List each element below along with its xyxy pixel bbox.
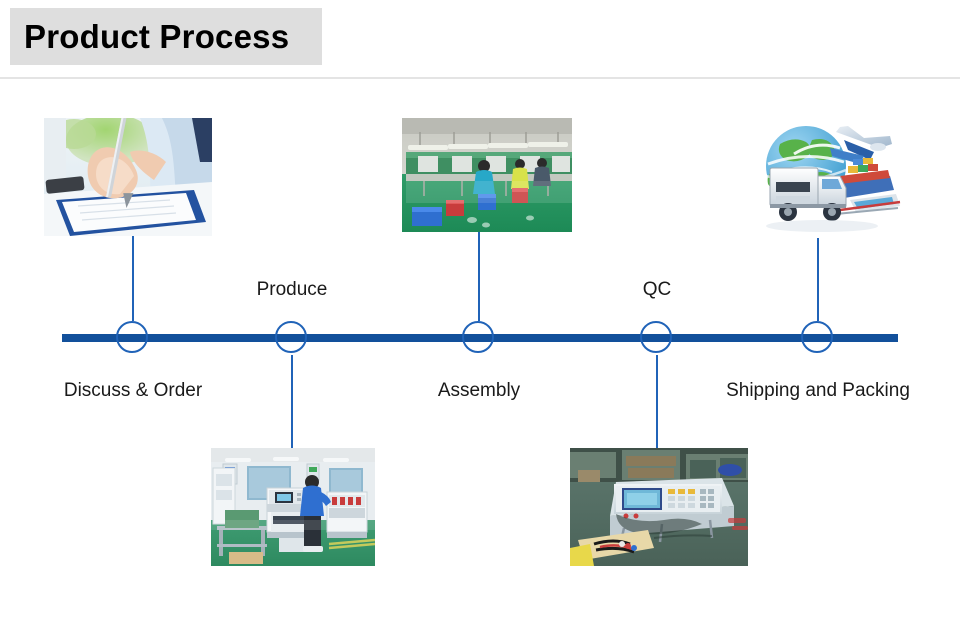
- timeline-node-assembly[interactable]: [462, 321, 494, 353]
- header: Product Process: [0, 0, 960, 79]
- slide-canvas: Product Process: [0, 0, 960, 617]
- connector-shipping-packing: [817, 238, 819, 321]
- stage-label-qc: QC: [643, 279, 672, 301]
- stage-label-shipping-packing: Shipping and Packing: [726, 380, 910, 402]
- title-box: Product Process: [10, 8, 322, 65]
- connector-produce: [291, 355, 293, 448]
- assembly-line-photo: [402, 118, 572, 232]
- timeline-node-shipping-packing[interactable]: [801, 321, 833, 353]
- timeline-node-qc[interactable]: [640, 321, 672, 353]
- connector-assembly: [478, 232, 480, 321]
- connector-discuss-order: [132, 236, 134, 321]
- page-title: Product Process: [10, 18, 289, 56]
- header-divider: [0, 77, 960, 79]
- global-logistics-photo: [740, 118, 902, 238]
- timeline-node-produce[interactable]: [275, 321, 307, 353]
- production-workshop-photo: [211, 448, 375, 566]
- qc-testing-equipment-photo: [570, 448, 748, 566]
- signing-contract-photo: [44, 118, 212, 236]
- stage-label-produce: Produce: [257, 279, 328, 301]
- timeline-node-discuss-order[interactable]: [116, 321, 148, 353]
- stage-label-discuss-order: Discuss & Order: [64, 380, 202, 402]
- connector-qc: [656, 355, 658, 448]
- stage-label-assembly: Assembly: [438, 380, 520, 402]
